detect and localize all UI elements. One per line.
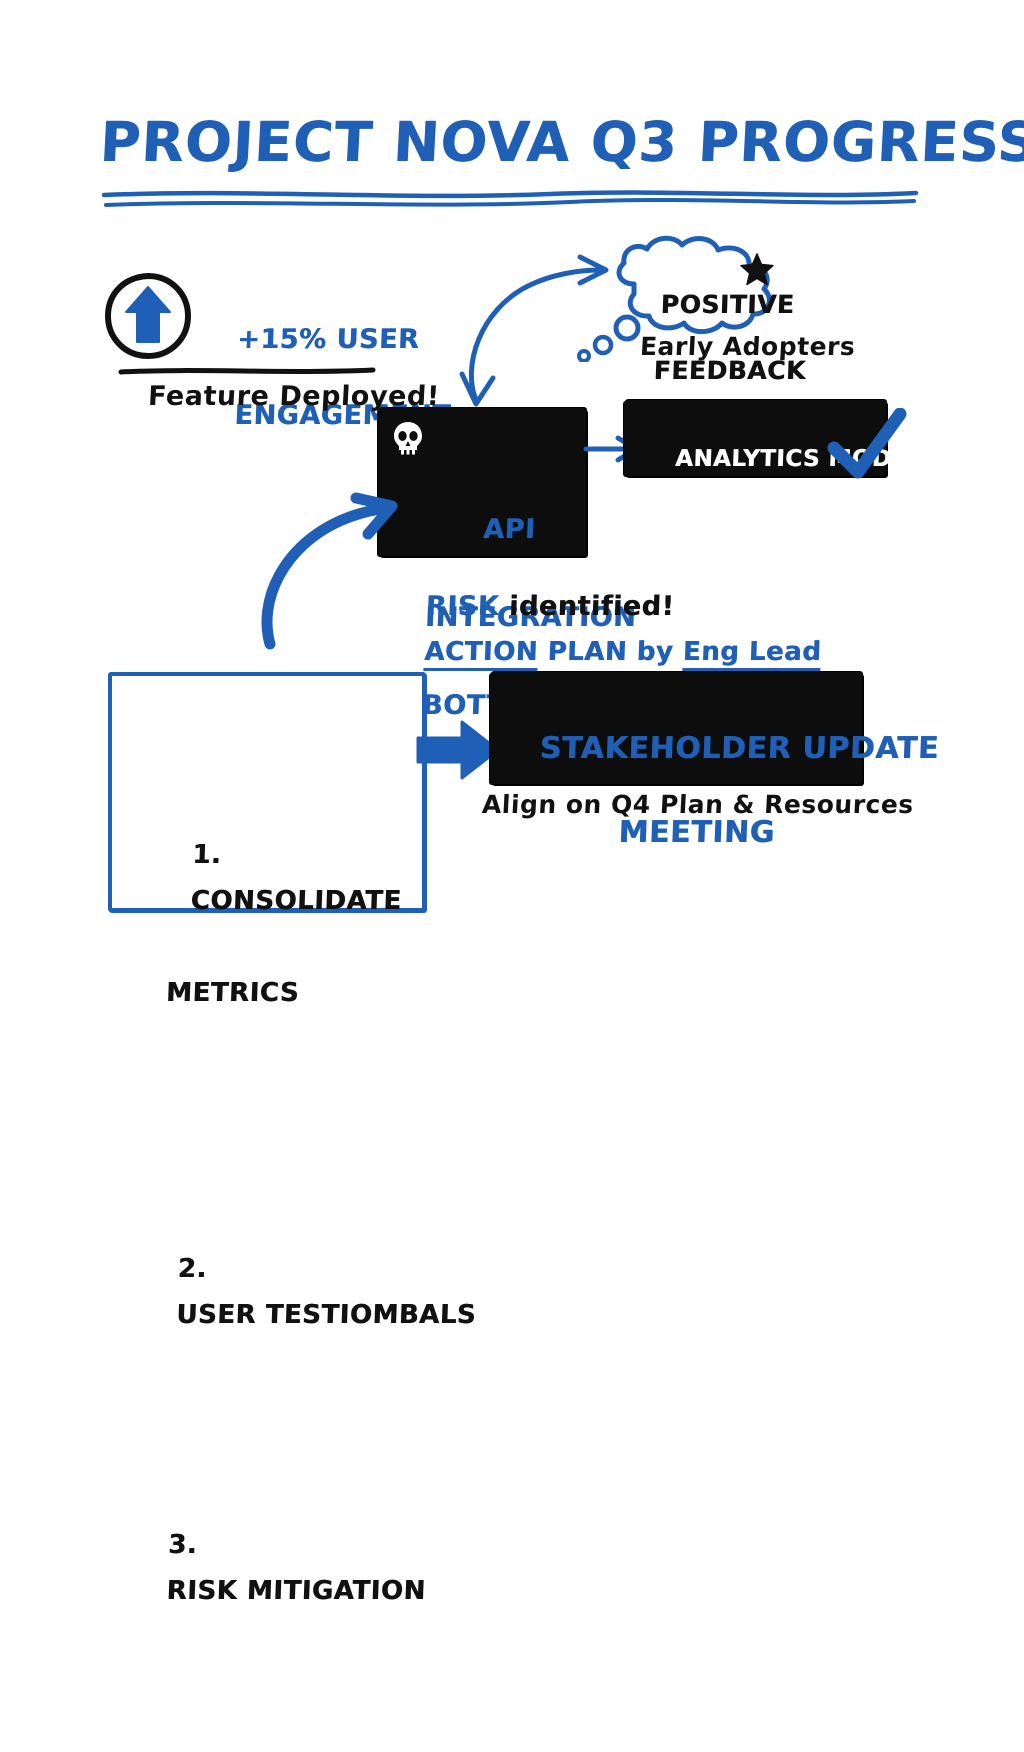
risk-box-line1: API xyxy=(388,508,590,552)
list-item-number: 1. xyxy=(192,840,222,870)
cloud-caption: Early Adopters xyxy=(639,332,851,362)
meeting-caption: Align on Q4 Plan & Resources xyxy=(481,790,873,820)
checkmark-icon xyxy=(826,408,908,486)
list-item-number: 3. xyxy=(168,1530,198,1560)
list-item[interactable]: 1. CONSOLIDATE METRICS xyxy=(126,786,437,1108)
list-item-label: USER TESTIOMBALS xyxy=(176,1300,477,1330)
kpi-metric-line1: +15% USER xyxy=(237,324,420,355)
list-item-label-cont: METRICS xyxy=(129,970,431,1016)
cloud-label-line1: POSITIVE xyxy=(660,290,795,319)
list-item[interactable]: 3. RISK MITIGATION xyxy=(107,1476,413,1660)
analytics-box-line2: INTEGRATED xyxy=(672,514,840,540)
connector-list-to-risk xyxy=(252,496,412,648)
kpi-metric: +15% USER ENGAGEMENT xyxy=(193,283,400,473)
list-item-label: CONSOLIDATE xyxy=(190,886,402,916)
list-item[interactable]: 2. USER TESTIOMBALS xyxy=(116,1200,422,1384)
action-plan-owner[interactable]: Eng Lead xyxy=(682,637,822,671)
action-plan-emphasis: ACTION xyxy=(424,637,539,671)
list-item-label: RISK MITIGATION xyxy=(166,1576,426,1606)
action-list: 1. CONSOLIDATE METRICS 2. USER TESTIOMBA… xyxy=(104,694,441,1752)
meeting-box-line1: STAKEHOLDER UPDATE xyxy=(539,731,939,766)
up-arrow-in-circle-icon xyxy=(104,272,192,360)
whiteboard-canvas: PROJECT NOVA Q3 PROGRESS +15% USER ENGAG… xyxy=(0,0,1024,1024)
meeting-box-line2: MEETING xyxy=(618,815,776,850)
page-title-block: PROJECT NOVA Q3 PROGRESS xyxy=(100,112,930,172)
connector-risk-to-feedback-cloud xyxy=(440,248,630,408)
page-title: PROJECT NOVA Q3 PROGRESS xyxy=(98,112,931,172)
kpi-divider xyxy=(118,367,376,375)
list-item-number: 2. xyxy=(177,1254,207,1284)
star-icon xyxy=(740,252,774,286)
action-plan-middle: PLAN by xyxy=(537,637,683,667)
title-underline-icon xyxy=(100,188,920,210)
